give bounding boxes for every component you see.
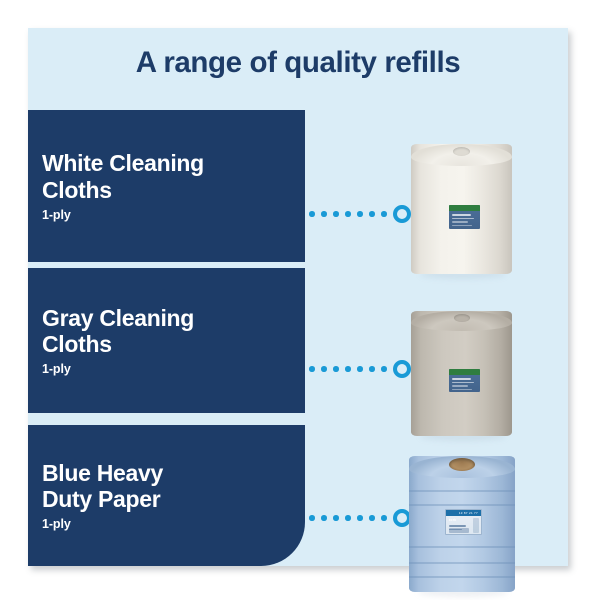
infographic-card: A range of quality refills White Cleanin… <box>28 28 568 566</box>
dot-icon <box>381 515 387 521</box>
gray-paper-roll-image <box>411 311 512 436</box>
dot-icon <box>369 211 375 217</box>
connector-white <box>305 202 411 226</box>
dot-icon <box>381 211 387 217</box>
product-title-line2: Duty Paper <box>42 486 305 512</box>
dot-icon <box>321 515 327 521</box>
label-code-text: 13 87 21 77 <box>459 511 478 515</box>
label-pictogram-row <box>449 528 469 533</box>
dot-icon <box>321 366 327 372</box>
label-text-lines <box>452 378 477 392</box>
product-panel-white-cleaning-cloths[interactable]: White Cleaning Cloths 1-ply <box>28 110 305 262</box>
dot-icon <box>369 515 375 521</box>
ring-marker-icon-blue <box>393 509 411 527</box>
roll-core-hole <box>454 314 470 322</box>
connector-gray <box>305 357 411 381</box>
product-label-gray <box>449 369 480 392</box>
product-label-blue: tork 13 87 21 77 <box>445 509 482 535</box>
connector-blue <box>305 506 411 530</box>
product-ply-gray: 1-ply <box>42 362 305 376</box>
roll-band <box>409 562 515 564</box>
dot-icon <box>333 515 339 521</box>
label-text-lines <box>452 214 477 228</box>
ring-marker-icon-white <box>393 205 411 223</box>
roll-band <box>409 546 515 548</box>
dot-icon <box>357 515 363 521</box>
dot-icon <box>333 211 339 217</box>
roll-band <box>409 504 515 506</box>
dotted-line-icon-blue <box>309 515 387 521</box>
dot-icon <box>321 211 327 217</box>
dot-icon <box>333 366 339 372</box>
product-title-line1: White Cleaning <box>42 150 305 176</box>
dot-icon <box>345 211 351 217</box>
product-title-line2: Cloths <box>42 331 305 357</box>
label-icon-column <box>473 518 479 533</box>
product-title-line1: Gray Cleaning <box>42 305 305 331</box>
dot-icon <box>381 366 387 372</box>
dotted-line-icon-white <box>309 211 387 217</box>
white-paper-roll-image <box>411 144 512 274</box>
product-title-line2: Cloths <box>42 177 305 203</box>
roll-band <box>409 490 515 492</box>
tork-brand-text: tork <box>449 518 456 522</box>
product-ply-blue: 1-ply <box>42 517 305 531</box>
dot-icon <box>357 366 363 372</box>
dot-icon <box>309 515 315 521</box>
label-brand-band <box>449 205 480 211</box>
dot-icon <box>357 211 363 217</box>
blue-paper-roll-image: tork 13 87 21 77 <box>409 456 515 592</box>
dot-icon <box>345 366 351 372</box>
dot-icon <box>309 211 315 217</box>
dot-icon <box>369 366 375 372</box>
dot-icon <box>309 366 315 372</box>
dotted-line-icon-gray <box>309 366 387 372</box>
product-panel-blue-heavy-duty-paper[interactable]: Blue Heavy Duty Paper 1-ply <box>28 425 305 566</box>
roll-band <box>409 576 515 578</box>
ring-marker-icon-gray <box>393 360 411 378</box>
label-brand-band <box>449 369 480 375</box>
roll-core-hole <box>453 147 470 156</box>
product-panel-gray-cleaning-cloths[interactable]: Gray Cleaning Cloths 1-ply <box>28 268 305 413</box>
product-ply-white: 1-ply <box>42 208 305 222</box>
product-title-line1: Blue Heavy <box>42 460 305 486</box>
page-title: A range of quality refills <box>28 48 568 78</box>
dot-icon <box>345 515 351 521</box>
roll-core-hole <box>449 458 475 471</box>
product-label-white <box>449 205 480 229</box>
